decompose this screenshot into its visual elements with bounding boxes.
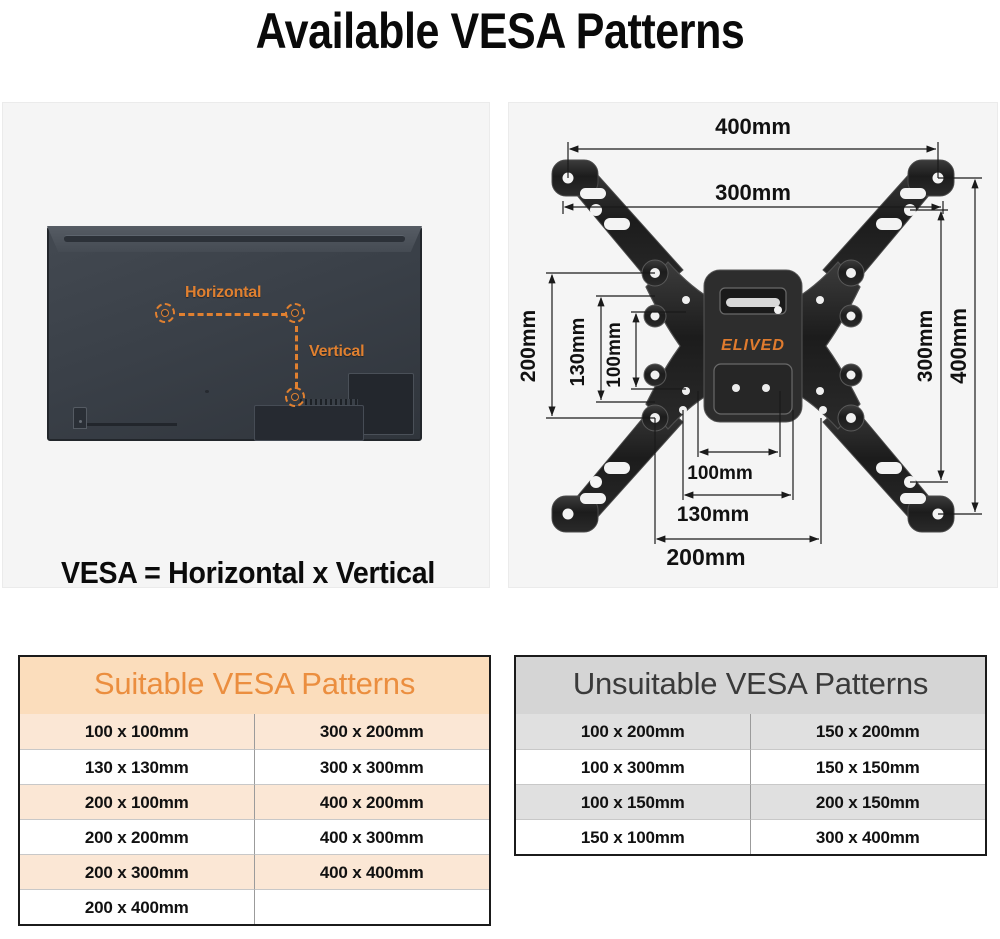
vesa-horizontal-label: Horizontal [185,284,261,302]
dim-bottom-outer: 200mm [666,544,745,570]
unsuitable-table-body: 100 x 200mm150 x 200mm100 x 300mm150 x 1… [516,714,985,854]
suitable-cell [255,889,490,924]
vesa-hole-top-left-icon [155,303,175,323]
suitable-cell: 400 x 200mm [255,784,490,819]
tv-illustration-panel: Horizontal Vertical VESA = Horizontal x … [2,102,490,588]
dim-top-inner: 300mm [715,180,791,205]
vesa-formula-text: VESA = Horizontal x Vertical [23,555,474,591]
suitable-vesa-table: Suitable VESA Patterns 100 x 100mm300 x … [18,655,491,926]
suitable-cell: 300 x 200mm [255,714,490,749]
dim-left-outer: 200mm [517,310,540,382]
unsuitable-cell: 100 x 300mm [516,749,751,784]
vesa-marker-overlay: Horizontal Vertical [47,226,422,441]
suitable-cell: 200 x 200mm [20,819,255,854]
dim-left-inner: 100mm [604,322,625,388]
suitable-cell: 400 x 400mm [255,854,490,889]
tv-back-illustration: Horizontal Vertical [47,226,422,441]
unsuitable-cell: 100 x 150mm [516,784,751,819]
suitable-cell: 100 x 100mm [20,714,255,749]
dim-right-outer: 400mm [946,308,971,384]
infographic-page: Available VESA Patterns Horizontal Verti… [0,0,1000,939]
suitable-cell: 130 x 130mm [20,749,255,784]
unsuitable-vesa-table: Unsuitable VESA Patterns 100 x 200mm150 … [514,655,987,856]
dim-bottom-inner: 100mm [687,463,753,484]
vesa-vertical-label: Vertical [309,343,364,361]
dim-left-mid: 130mm [567,318,589,387]
brand-logo: ELIVED [721,337,785,354]
unsuitable-cell: 150 x 150mm [751,749,986,784]
vesa-horizontal-dashed-line [179,313,287,316]
unsuitable-cell: 150 x 100mm [516,819,751,854]
suitable-table-body: 100 x 100mm300 x 200mm130 x 130mm300 x 3… [20,714,489,924]
suitable-table-title: Suitable VESA Patterns [20,657,489,714]
unsuitable-cell: 300 x 400mm [751,819,986,854]
dim-right-inner: 300mm [914,310,937,382]
unsuitable-cell: 100 x 200mm [516,714,751,749]
mount-bracket-diagram: ELIVED [508,102,998,588]
vesa-vertical-dashed-line [295,326,298,388]
dim-bottom-mid: 130mm [677,503,749,526]
suitable-cell: 300 x 300mm [255,749,490,784]
vesa-hole-bottom-right-icon [285,387,305,407]
suitable-cell: 200 x 100mm [20,784,255,819]
unsuitable-cell: 200 x 150mm [751,784,986,819]
suitable-cell: 200 x 400mm [20,889,255,924]
unsuitable-table-title: Unsuitable VESA Patterns [516,657,985,714]
suitable-cell: 200 x 300mm [20,854,255,889]
unsuitable-cell: 150 x 200mm [751,714,986,749]
vesa-hole-top-right-icon [285,303,305,323]
suitable-cell: 400 x 300mm [255,819,490,854]
dim-top-outer: 400mm [715,114,791,139]
page-title: Available VESA Patterns [70,2,930,60]
